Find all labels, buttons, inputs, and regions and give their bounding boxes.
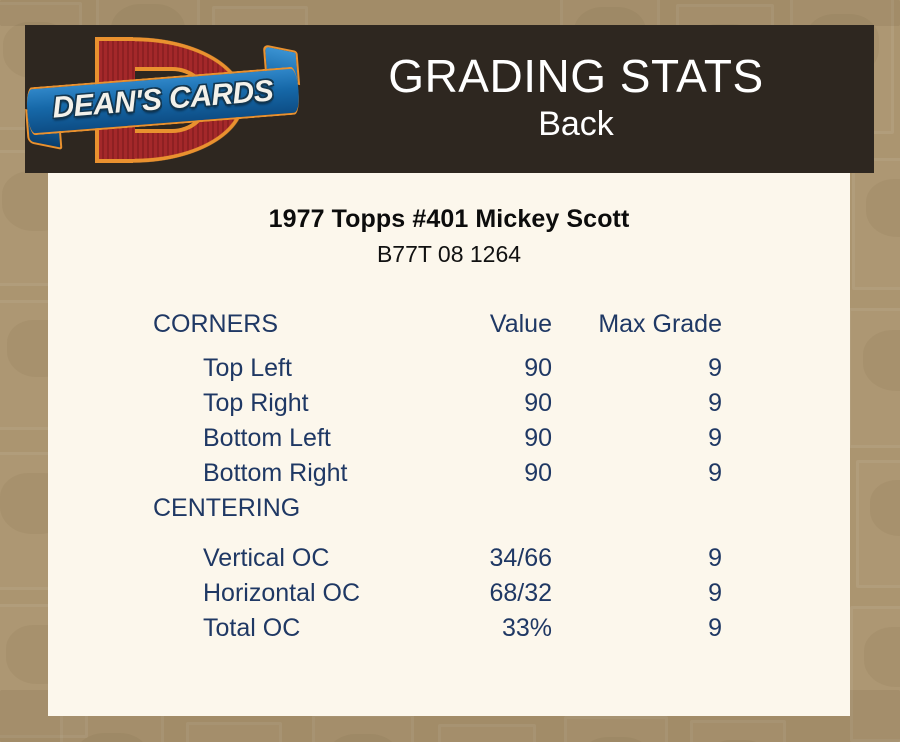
stat-label: Vertical OC [48, 544, 408, 579]
page-title: GRADING STATS [300, 52, 852, 100]
stat-value: 68/32 [408, 579, 598, 614]
table-spacer [798, 544, 850, 579]
table-row: Top Right909 [48, 389, 850, 424]
table-row: Top Left909 [48, 354, 850, 389]
table-spacer [798, 424, 850, 459]
stat-max-grade: 9 [598, 354, 798, 389]
stat-max-grade: 9 [598, 424, 798, 459]
table-spacer [798, 354, 850, 389]
stat-label: Top Left [48, 354, 408, 389]
table-spacer [798, 459, 850, 494]
table-section-row: CENTERING [48, 494, 850, 544]
grading-stats-table: CORNERSValueMax GradeTop Left909Top Righ… [48, 310, 850, 649]
stat-label: Horizontal OC [48, 579, 408, 614]
stat-value: 33% [408, 614, 598, 649]
card-title: 1977 Topps #401 Mickey Scott [48, 205, 850, 234]
stat-label: Bottom Right [48, 459, 408, 494]
stat-max-grade: 9 [598, 544, 798, 579]
stat-label: Bottom Left [48, 424, 408, 459]
card-serial-number: B77T 08 1264 [48, 241, 850, 268]
section-heading-corners: CORNERS [48, 310, 408, 354]
table-spacer [798, 310, 850, 354]
table-row: Horizontal OC68/329 [48, 579, 850, 614]
stat-value: 34/66 [408, 544, 598, 579]
stat-max-grade: 9 [598, 614, 798, 649]
table-row: Vertical OC34/669 [48, 544, 850, 579]
table-row: Total OC33%9 [48, 614, 850, 649]
stat-value: 90 [408, 389, 598, 424]
header-bar: DEAN'S CARDS GRADING STATS Back [25, 25, 874, 173]
stat-value: 90 [408, 354, 598, 389]
stat-value: 90 [408, 459, 598, 494]
column-header-max-grade: Max Grade [598, 310, 798, 354]
stat-max-grade: 9 [598, 579, 798, 614]
stat-max-grade: 9 [598, 389, 798, 424]
table-row: Bottom Left909 [48, 424, 850, 459]
table-spacer [798, 579, 850, 614]
deans-cards-logo[interactable]: DEAN'S CARDS [25, 25, 300, 173]
content-panel: 1977 Topps #401 Mickey Scott B77T 08 126… [48, 173, 850, 716]
logo-ribbon-banner-icon: DEAN'S CARDS [25, 62, 301, 141]
section-heading-centering: CENTERING [48, 494, 850, 544]
header-title-group: GRADING STATS Back [300, 52, 874, 146]
page-subtitle: Back [300, 102, 852, 146]
column-header-value: Value [408, 310, 598, 354]
stat-label: Total OC [48, 614, 408, 649]
table-row: Bottom Right909 [48, 459, 850, 494]
stat-value: 90 [408, 424, 598, 459]
table-spacer [798, 614, 850, 649]
table-spacer [798, 389, 850, 424]
stat-max-grade: 9 [598, 459, 798, 494]
stat-label: Top Right [48, 389, 408, 424]
table-header-row: CORNERSValueMax Grade [48, 310, 850, 354]
